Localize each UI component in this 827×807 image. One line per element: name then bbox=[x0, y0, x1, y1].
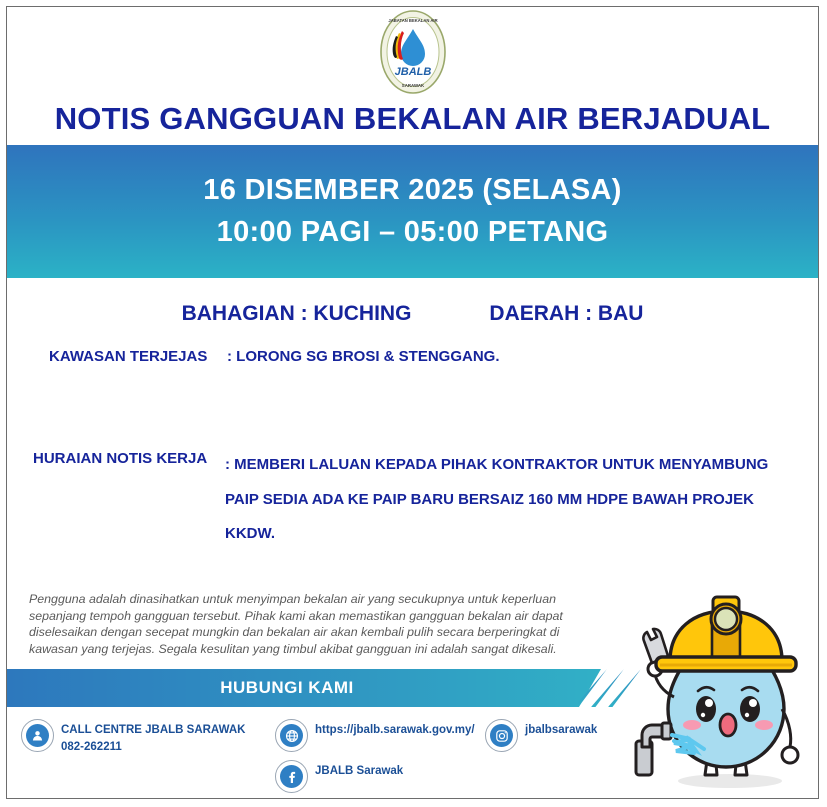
poster-header: JBALB JABATAN BEKALAN AIR SARAWAK NOTIS … bbox=[7, 7, 818, 145]
work-description-line-1: : MEMBERI LALUAN KEPADA PIHAK KONTRAKTOR… bbox=[225, 448, 798, 483]
svg-text:SARAWAK: SARAWAK bbox=[401, 83, 424, 88]
disclaimer-text: Pengguna adalah dinasihatkan untuk menyi… bbox=[29, 591, 597, 658]
notice-time: 10:00 PAGI – 05:00 PETANG bbox=[217, 212, 609, 253]
call-centre-text: CALL CENTRE JBALB SARAWAK 082-262211 bbox=[61, 719, 245, 755]
work-description-value: : MEMBERI LALUAN KEPADA PIHAK KONTRAKTOR… bbox=[225, 448, 798, 552]
work-description-label: HURAIAN NOTIS KERJA bbox=[33, 448, 225, 552]
contact-call-centre[interactable]: CALL CENTRE JBALB SARAWAK 082-262211 bbox=[21, 719, 245, 755]
facebook-icon bbox=[275, 760, 308, 793]
notice-poster: JBALB JABATAN BEKALAN AIR SARAWAK NOTIS … bbox=[6, 6, 819, 799]
work-description-line-2: PAIP SEDIA ADA KE PAIP BARU BERSAIZ 160 … bbox=[225, 483, 798, 518]
facebook-handle: JBALB Sarawak bbox=[315, 760, 403, 780]
contact-website[interactable]: https://jbalb.sarawak.gov.my/ bbox=[275, 719, 475, 752]
instagram-handle: jbalbsarawak bbox=[525, 719, 597, 739]
work-description-line-3: KKDW. bbox=[225, 517, 798, 552]
svg-text:JBALB: JBALB bbox=[394, 66, 431, 78]
globe-icon bbox=[275, 719, 308, 752]
notice-date: 16 DISEMBER 2025 (SELASA) bbox=[203, 170, 621, 211]
call-centre-line-1: CALL CENTRE JBALB SARAWAK bbox=[61, 722, 245, 739]
daerah-label: DAERAH : BAU bbox=[489, 302, 643, 326]
person-icon bbox=[21, 719, 54, 752]
affected-area-row: KAWASAN TERJEJAS : LORONG SG BROSI & STE… bbox=[49, 348, 798, 365]
contact-instagram[interactable]: jbalbsarawak bbox=[485, 719, 597, 752]
contact-banner-title: HUBUNGI KAMI bbox=[7, 669, 567, 707]
contact-facebook[interactable]: JBALB Sarawak bbox=[275, 760, 403, 793]
contact-details: CALL CENTRE JBALB SARAWAK 082-262211 htt… bbox=[7, 711, 818, 799]
svg-text:JABATAN BEKALAN AIR: JABATAN BEKALAN AIR bbox=[388, 18, 437, 23]
affected-area-label: KAWASAN TERJEJAS bbox=[49, 348, 227, 365]
slash-decoration-3 bbox=[608, 669, 641, 707]
website-url: https://jbalb.sarawak.gov.my/ bbox=[315, 719, 475, 739]
region-row: BAHAGIAN : KUCHING DAERAH : BAU bbox=[7, 302, 818, 326]
notice-body: BAHAGIAN : KUCHING DAERAH : BAU KAWASAN … bbox=[7, 278, 818, 663]
work-description-row: HURAIAN NOTIS KERJA : MEMBERI LALUAN KEP… bbox=[33, 448, 798, 552]
bahagian-label: BAHAGIAN : KUCHING bbox=[182, 302, 412, 326]
call-centre-line-2: 082-262211 bbox=[61, 739, 245, 756]
affected-area-value: : LORONG SG BROSI & STENGGANG. bbox=[227, 348, 798, 365]
page-title: NOTIS GANGGUAN BEKALAN AIR BERJADUAL bbox=[7, 101, 818, 137]
instagram-icon bbox=[485, 719, 518, 752]
jbalb-logo: JBALB JABATAN BEKALAN AIR SARAWAK bbox=[367, 9, 459, 95]
date-time-banner: 16 DISEMBER 2025 (SELASA) 10:00 PAGI – 0… bbox=[7, 145, 818, 278]
contact-banner: HUBUNGI KAMI bbox=[7, 663, 818, 711]
